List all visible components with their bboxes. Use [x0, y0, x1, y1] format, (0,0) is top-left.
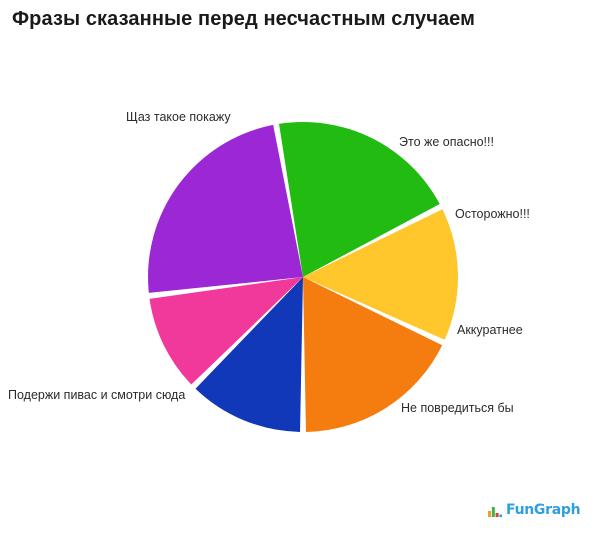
pie-label-purple: Подержи пивас и смотри сюда	[8, 389, 185, 403]
pie-chart-svg	[0, 0, 600, 530]
watermark: FunGraph	[487, 499, 587, 521]
watermark-label: FunGraph	[506, 502, 580, 518]
pie-slice-group	[148, 122, 458, 432]
pie-label-blue: Аккуратнее	[457, 324, 523, 338]
pie-label-orange: Осторожно!!!	[455, 208, 530, 222]
chart-page: Фразы сказанные перед несчастным случаем…	[0, 0, 600, 530]
pie-slice[interactable]	[148, 125, 303, 293]
pie-label-green: Щаз такое покажу	[126, 111, 231, 125]
bar-chart-icon	[487, 502, 503, 518]
pie-chart	[0, 0, 600, 530]
pie-label-pink: Не повредиться бы	[401, 402, 514, 416]
pie-label-yellow: Это же опасно!!!	[399, 136, 494, 150]
